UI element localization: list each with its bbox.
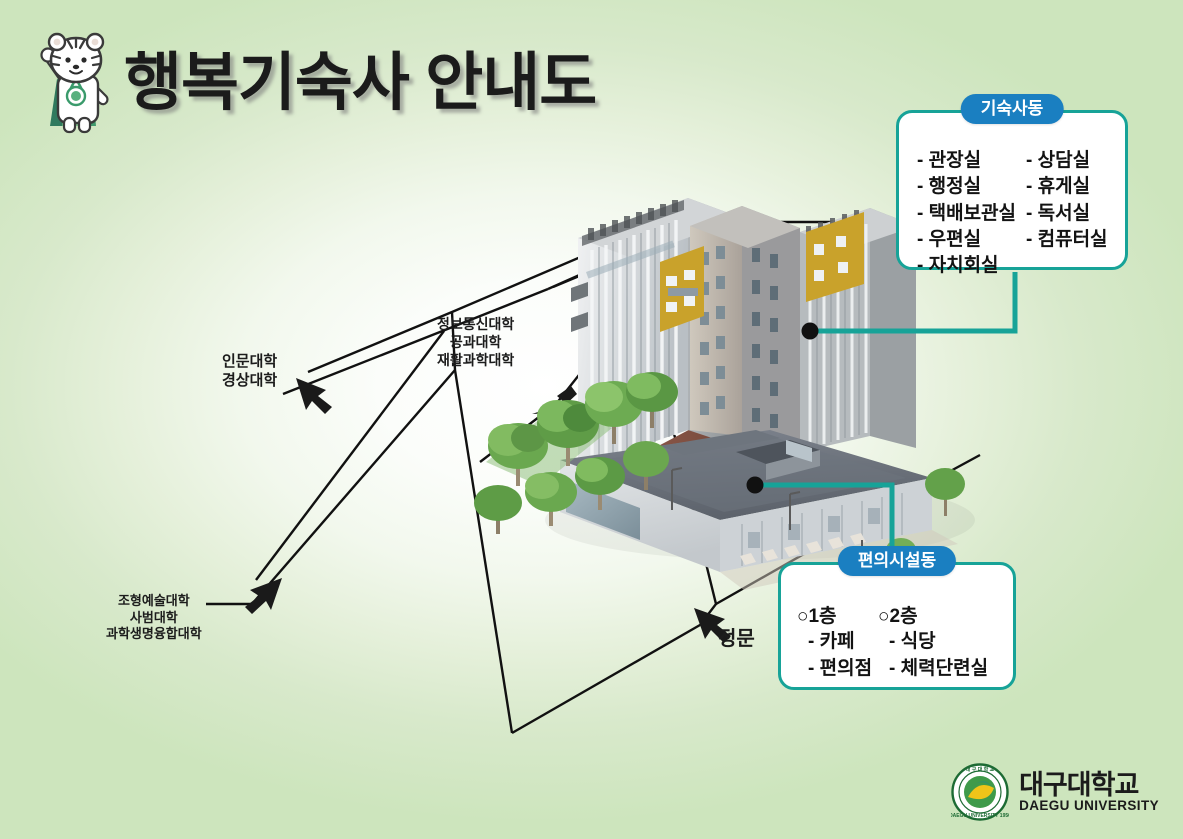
logo-name-en: DAEGU UNIVERSITY <box>1019 799 1159 813</box>
floor-item: - 편의점 <box>797 657 872 682</box>
label-line: 공과대학 <box>437 334 514 352</box>
map-canvas: 행복기숙사 안내도 <box>0 0 1183 839</box>
facility-item: - 관장실 <box>917 149 1016 173</box>
facility-item: - 우편실 <box>917 228 1016 252</box>
svg-text:DAEGU UNIVERSITY 1956: DAEGU UNIVERSITY 1956 <box>951 813 1009 819</box>
daegu-university-seal-icon: 대 구 대 학 교 DAEGU UNIVERSITY 1956 <box>951 763 1009 821</box>
callout-convenience-header: 편의시설동 <box>838 546 956 576</box>
label-line: 정문 <box>718 627 755 653</box>
label-line: 과학생명융합대학 <box>106 626 202 643</box>
floor-item: - 체력단련실 <box>878 657 988 682</box>
floor-label: ○1층 <box>797 601 872 628</box>
facility-item: - 컴퓨터실 <box>1026 228 1108 252</box>
callout-convenience-building: 편의시설동 ○1층 - 카페 - 편의점 ○2층 - 식당 - 체력단련실 <box>778 562 1016 690</box>
floor-item: - 카페 <box>797 630 872 655</box>
convenience-anchor-dot <box>747 477 764 494</box>
direction-label-humanities: 인문대학 경상대학 <box>222 352 277 390</box>
facility-item: - 자치회실 <box>917 254 1016 278</box>
svg-text:대 구 대 학 교: 대 구 대 학 교 <box>966 766 995 773</box>
facility-item: - 행정실 <box>917 175 1016 199</box>
convenience-floor-2: ○2층 - 식당 - 체력단련실 <box>878 601 988 681</box>
dormitory-facility-column-1: - 관장실 - 행정실 - 택배보관실 - 우편실 - 자치회실 <box>917 149 1016 279</box>
logo-name-ko: 대구대학교 <box>1019 772 1159 799</box>
direction-label-arts: 조형예술대학 사범대학 과학생명융합대학 <box>106 593 202 643</box>
callout-dormitory-building: 기숙사동 - 관장실 - 행정실 - 택배보관실 - 우편실 - 자치회실 - … <box>896 110 1128 270</box>
label-line: 사범대학 <box>106 610 202 627</box>
label-line: 경상대학 <box>222 371 277 390</box>
university-logo: 대 구 대 학 교 DAEGU UNIVERSITY 1956 대구대학교 DA… <box>951 763 1159 821</box>
convenience-floor-1: ○1층 - 카페 - 편의점 <box>797 601 872 681</box>
label-line: 조형예술대학 <box>106 593 202 610</box>
callout-dormitory-header: 기숙사동 <box>961 94 1064 124</box>
floor-label: ○2층 <box>878 601 988 628</box>
label-line: 인문대학 <box>222 352 277 371</box>
facility-item: - 휴게실 <box>1026 175 1108 199</box>
dorm-anchor-dot <box>802 323 819 340</box>
direction-label-ict: 정보통신대학 공과대학 재활과학대학 <box>437 316 514 370</box>
facility-item: - 택배보관실 <box>917 202 1016 226</box>
facility-item: - 상담실 <box>1026 149 1108 173</box>
floor-item: - 식당 <box>878 630 988 655</box>
label-line: 정보통신대학 <box>437 316 514 334</box>
direction-label-main-gate: 정문 <box>718 627 755 653</box>
label-line: 재활과학대학 <box>437 352 514 370</box>
facility-item: - 독서실 <box>1026 202 1108 226</box>
dormitory-facility-column-2: - 상담실 - 휴게실 - 독서실 - 컴퓨터실 <box>1026 149 1108 279</box>
